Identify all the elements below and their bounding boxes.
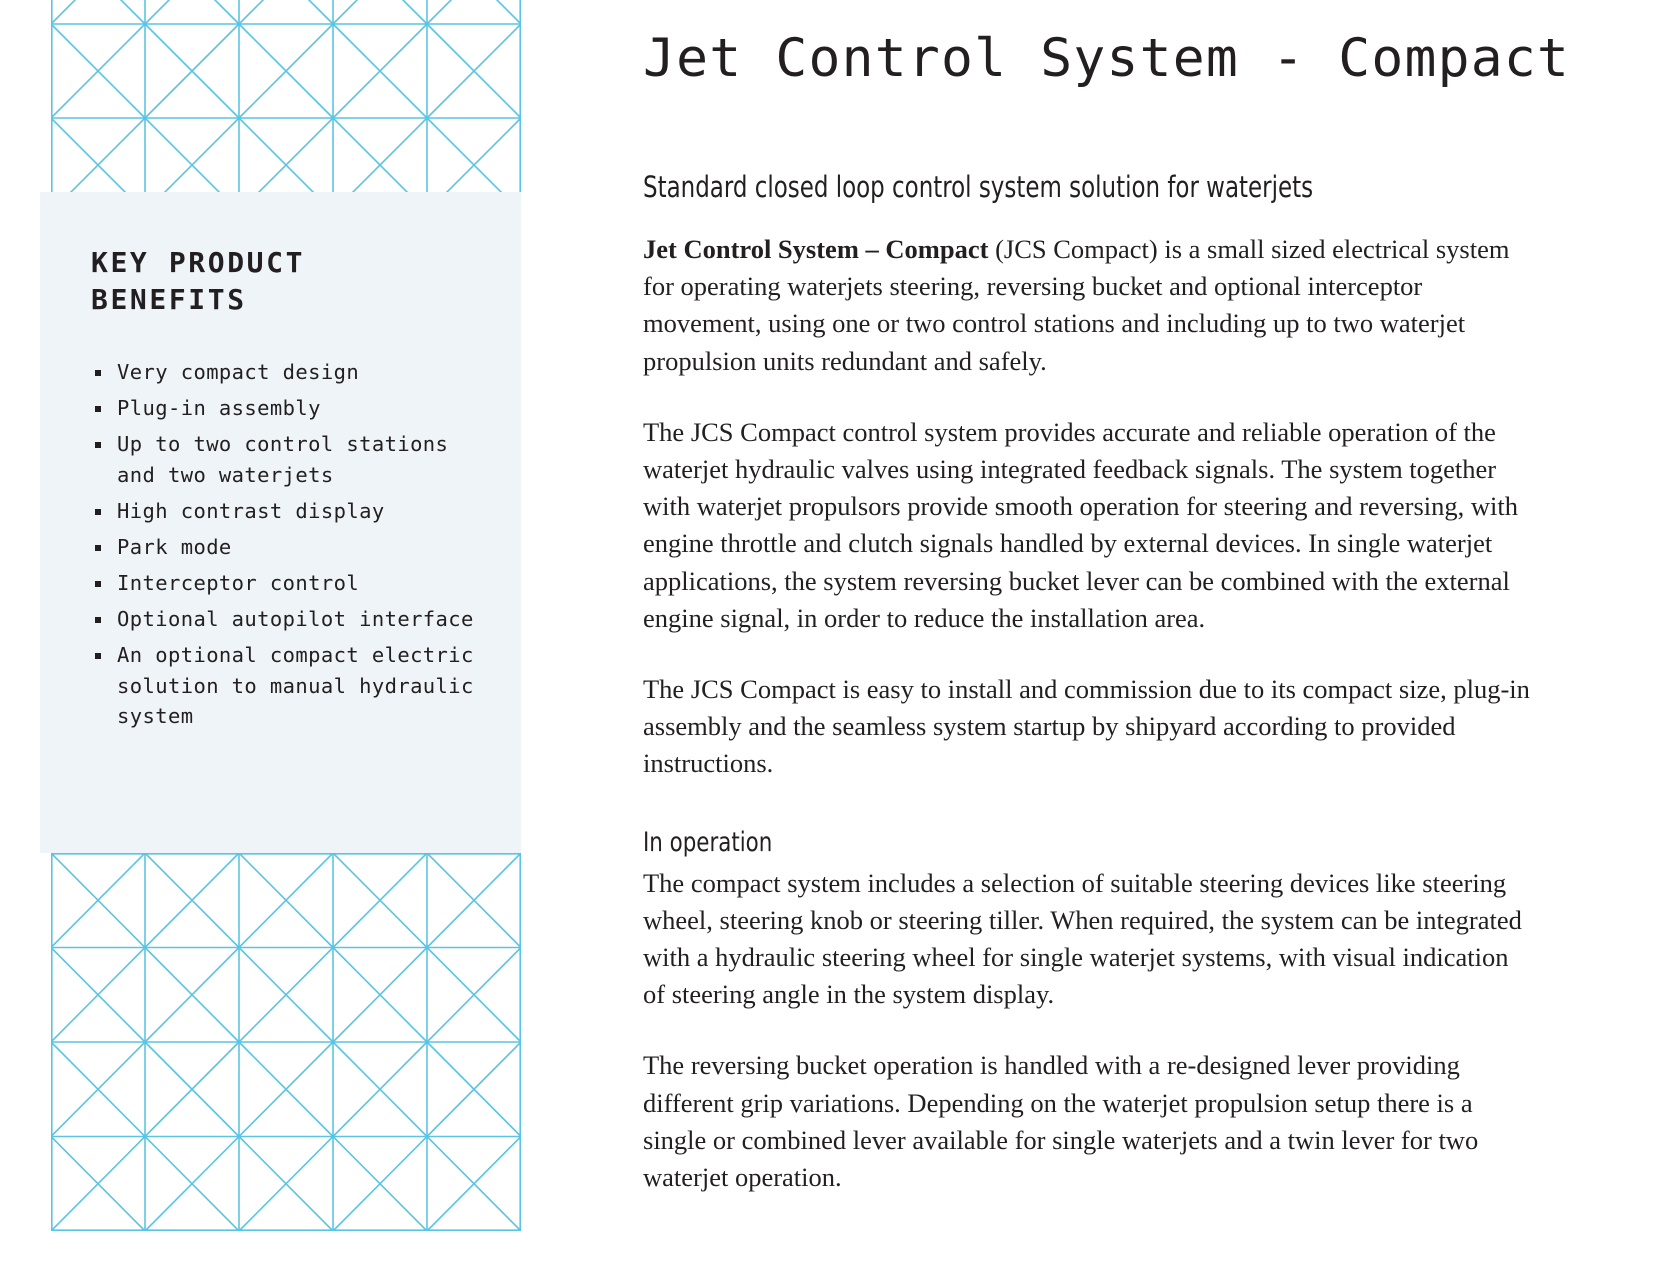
intro-paragraph: Jet Control System – Compact (JCS Compac… xyxy=(643,231,1533,380)
list-item: Very compact design xyxy=(91,357,487,388)
square-bullet-icon xyxy=(95,406,101,412)
list-item: Park mode xyxy=(91,532,487,563)
paragraph-5: The reversing bucket operation is handle… xyxy=(643,1047,1533,1196)
key-benefits-panel: KEY PRODUCT BENEFITS Very compact design… xyxy=(40,192,521,853)
list-item-label: Very compact design xyxy=(117,360,359,384)
key-benefits-heading: KEY PRODUCT BENEFITS xyxy=(91,244,487,318)
list-item-label: Park mode xyxy=(117,535,232,559)
square-bullet-icon xyxy=(95,653,101,659)
main-content: Jet Control System - Compact Standard cl… xyxy=(643,0,1533,1196)
page-title: Jet Control System - Compact xyxy=(643,27,1533,91)
list-item-label: An optional compact electric solution to… xyxy=(117,643,474,728)
list-item-label: Up to two control stations and two water… xyxy=(117,432,448,487)
decorative-grid-top xyxy=(51,0,521,192)
list-item: Optional autopilot interface xyxy=(91,604,487,635)
decorative-grid-bottom xyxy=(51,853,521,1231)
section-heading-in-operation: In operation xyxy=(643,827,1426,859)
paragraph-2: The JCS Compact control system provides … xyxy=(643,414,1533,637)
key-benefits-list: Very compact design Plug-in assembly Up … xyxy=(91,357,487,732)
list-item-label: High contrast display xyxy=(117,499,385,523)
square-bullet-icon xyxy=(95,370,101,376)
list-item: An optional compact electric solution to… xyxy=(91,640,487,732)
square-bullet-icon xyxy=(95,509,101,515)
paragraph-3: The JCS Compact is easy to install and c… xyxy=(643,671,1533,783)
left-column: KEY PRODUCT BENEFITS Very compact design… xyxy=(0,0,560,1281)
paragraph-4: The compact system includes a selection … xyxy=(643,865,1533,1014)
page-subtitle: Standard closed loop control system solu… xyxy=(643,169,1426,205)
list-item-label: Optional autopilot interface xyxy=(117,607,474,631)
list-item: Up to two control stations and two water… xyxy=(91,429,487,490)
square-bullet-icon xyxy=(95,545,101,551)
list-item: High contrast display xyxy=(91,496,487,527)
list-item: Plug-in assembly xyxy=(91,393,487,424)
list-item: Interceptor control xyxy=(91,568,487,599)
square-bullet-icon xyxy=(95,581,101,587)
square-bullet-icon xyxy=(95,617,101,623)
list-item-label: Interceptor control xyxy=(117,571,359,595)
square-bullet-icon xyxy=(95,442,101,448)
intro-lead: Jet Control System – Compact xyxy=(643,234,988,264)
list-item-label: Plug-in assembly xyxy=(117,396,321,420)
